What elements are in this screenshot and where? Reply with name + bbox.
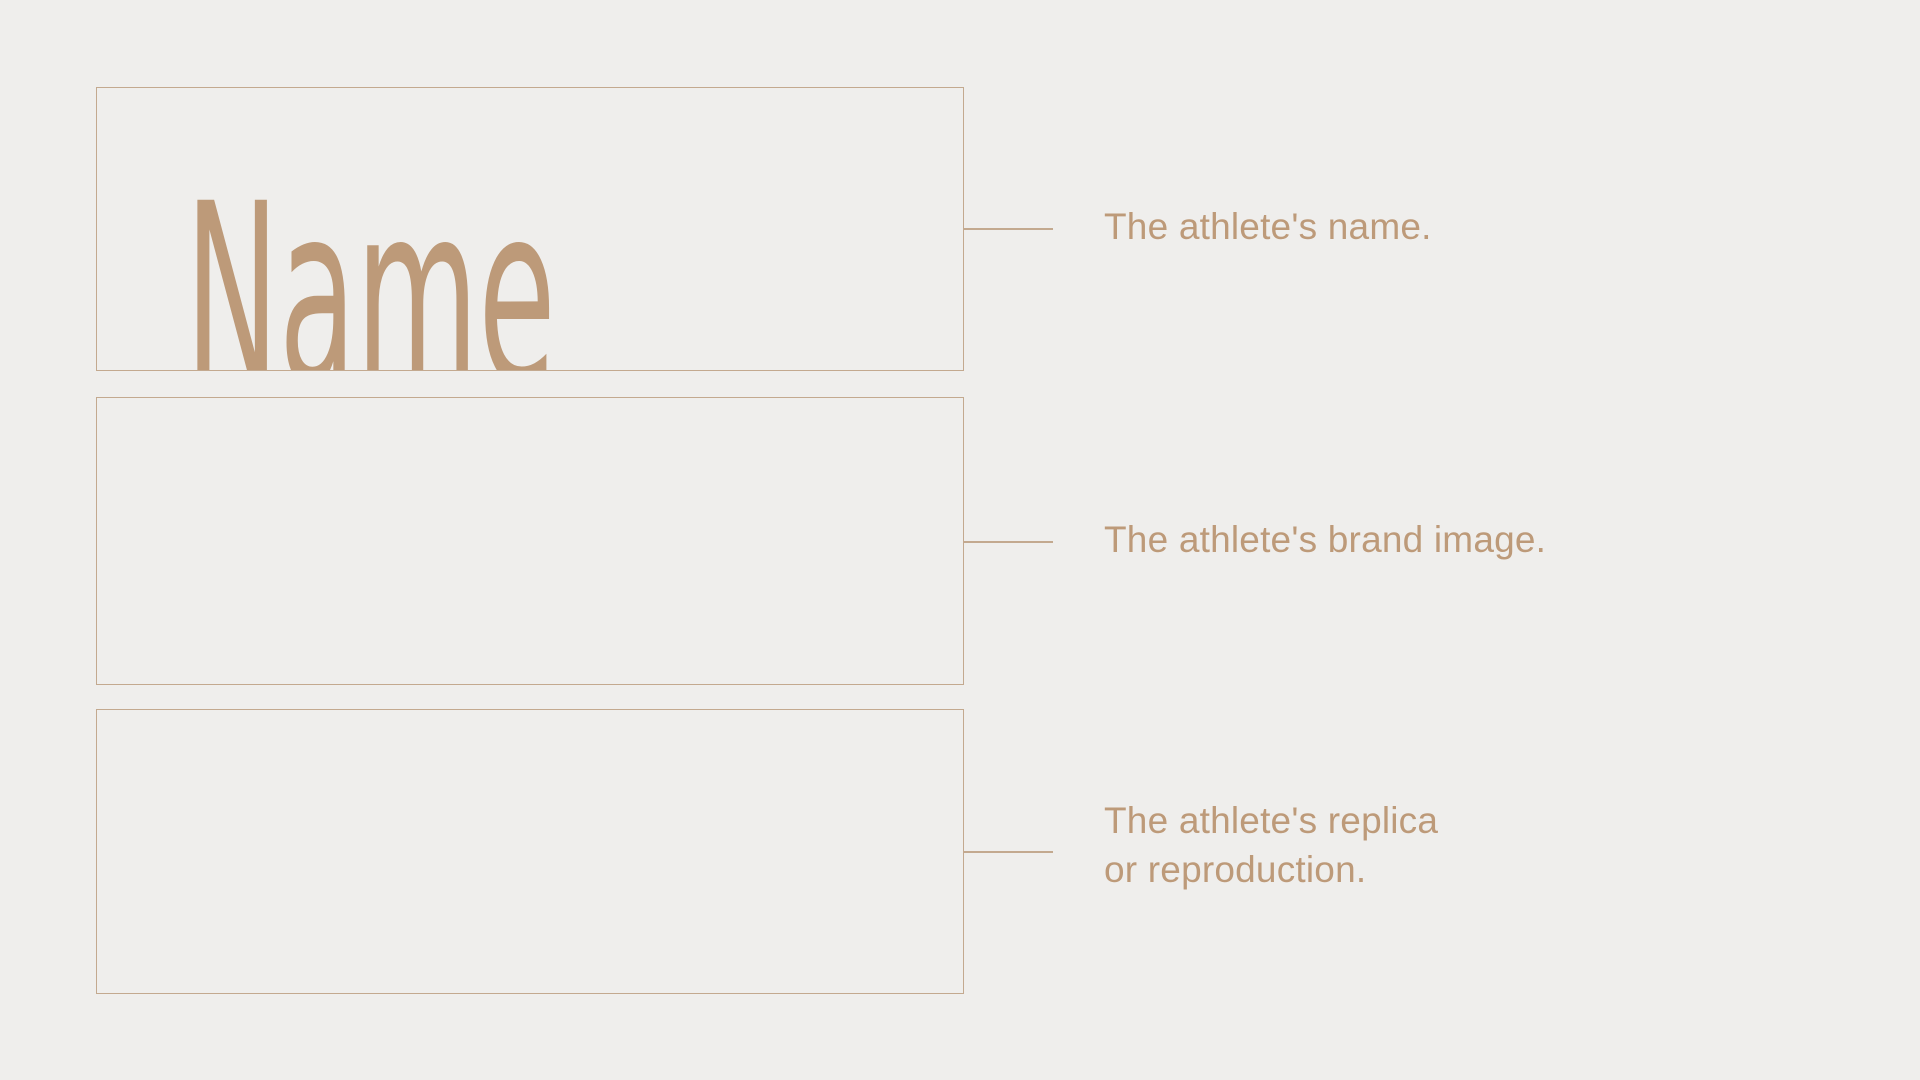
description-name: The athlete's name. <box>1104 202 1432 251</box>
term-box-name: Name <box>96 87 964 371</box>
diagram-canvas: Name The athlete's name. Image The athle… <box>0 0 1920 1080</box>
leader-line-name <box>963 228 1053 230</box>
leader-line-image <box>963 541 1053 543</box>
description-likeness: The athlete's replica or reproduction. <box>1104 796 1438 894</box>
term-box-image: Image <box>96 397 964 685</box>
description-image: The athlete's brand image. <box>1104 515 1546 564</box>
leader-line-likeness <box>963 851 1053 853</box>
term-box-likeness: Likeness <box>96 709 964 994</box>
term-word-name: Name <box>185 188 555 371</box>
